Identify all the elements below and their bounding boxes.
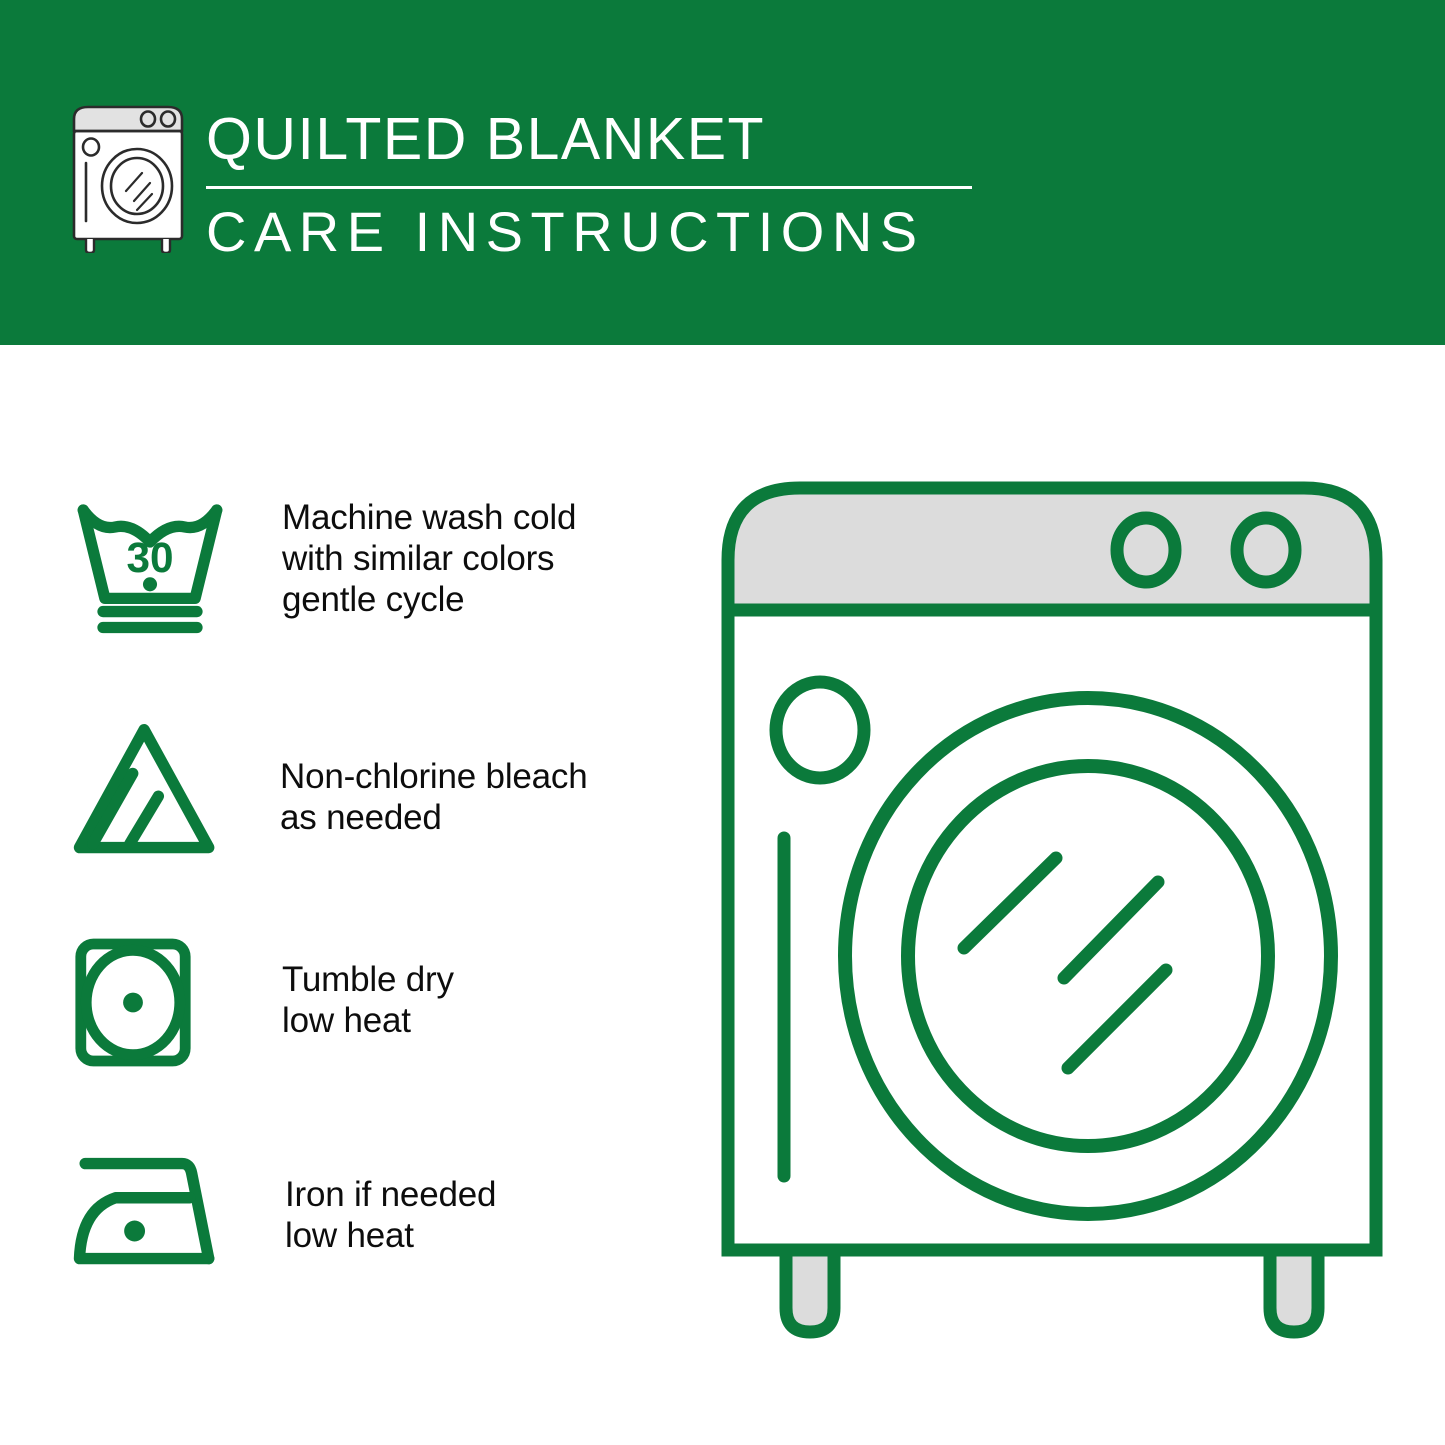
header-band: QUILTED BLANKET CARE INSTRUCTIONS [0,0,1445,345]
foot-left [786,1250,834,1332]
non-chlorine-bleach-triangle-icon [70,720,230,863]
care-symbol-row-iron: Iron if needed low heat [70,1150,690,1274]
iron-low-heat-icon [70,1150,230,1274]
care-symbol-label-wash: Machine wash cold with similar colors ge… [230,495,576,620]
header-text-block: QUILTED BLANKET CARE INSTRUCTIONS [206,104,986,267]
knob-right [1237,518,1295,582]
title-divider [206,186,972,189]
power-button [776,682,864,778]
wash-temperature-label: 30 [126,534,173,581]
label-line: gentle cycle [282,579,576,620]
washing-machine-icon [64,103,192,253]
label-line: Non-chlorine bleach [280,756,588,797]
label-line: low heat [285,1215,496,1256]
care-symbol-row-wash: 30 Machine wash cold with similar colors… [70,495,690,636]
front-load-washing-machine-illustration [716,470,1388,1350]
label-line: with similar colors [282,538,576,579]
care-instructions-card: QUILTED BLANKET CARE INSTRUCTIONS [0,0,1445,1445]
care-symbol-label-bleach: Non-chlorine bleach as needed [230,720,588,838]
care-symbol-list: 30 Machine wash cold with similar colors… [0,345,700,1445]
foot-right [1270,1250,1318,1332]
care-symbol-row-dry: Tumble dry low heat [70,935,690,1070]
label-line: Tumble dry [282,959,454,1000]
care-symbol-row-bleach: Non-chlorine bleach as needed [70,720,690,863]
care-symbol-label-dry: Tumble dry low heat [230,935,454,1041]
tumble-dry-low-heat-icon [70,935,230,1070]
label-line: as needed [280,797,588,838]
label-line: low heat [282,1000,454,1041]
label-line: Iron if needed [285,1174,496,1215]
page-title: QUILTED BLANKET [206,104,986,174]
page-subtitle: CARE INSTRUCTIONS [206,197,986,267]
label-line: Machine wash cold [282,497,576,538]
knob-left [1117,518,1175,582]
care-symbol-label-iron: Iron if needed low heat [230,1150,496,1256]
wash-tub-30-gentle-icon: 30 [70,495,230,636]
